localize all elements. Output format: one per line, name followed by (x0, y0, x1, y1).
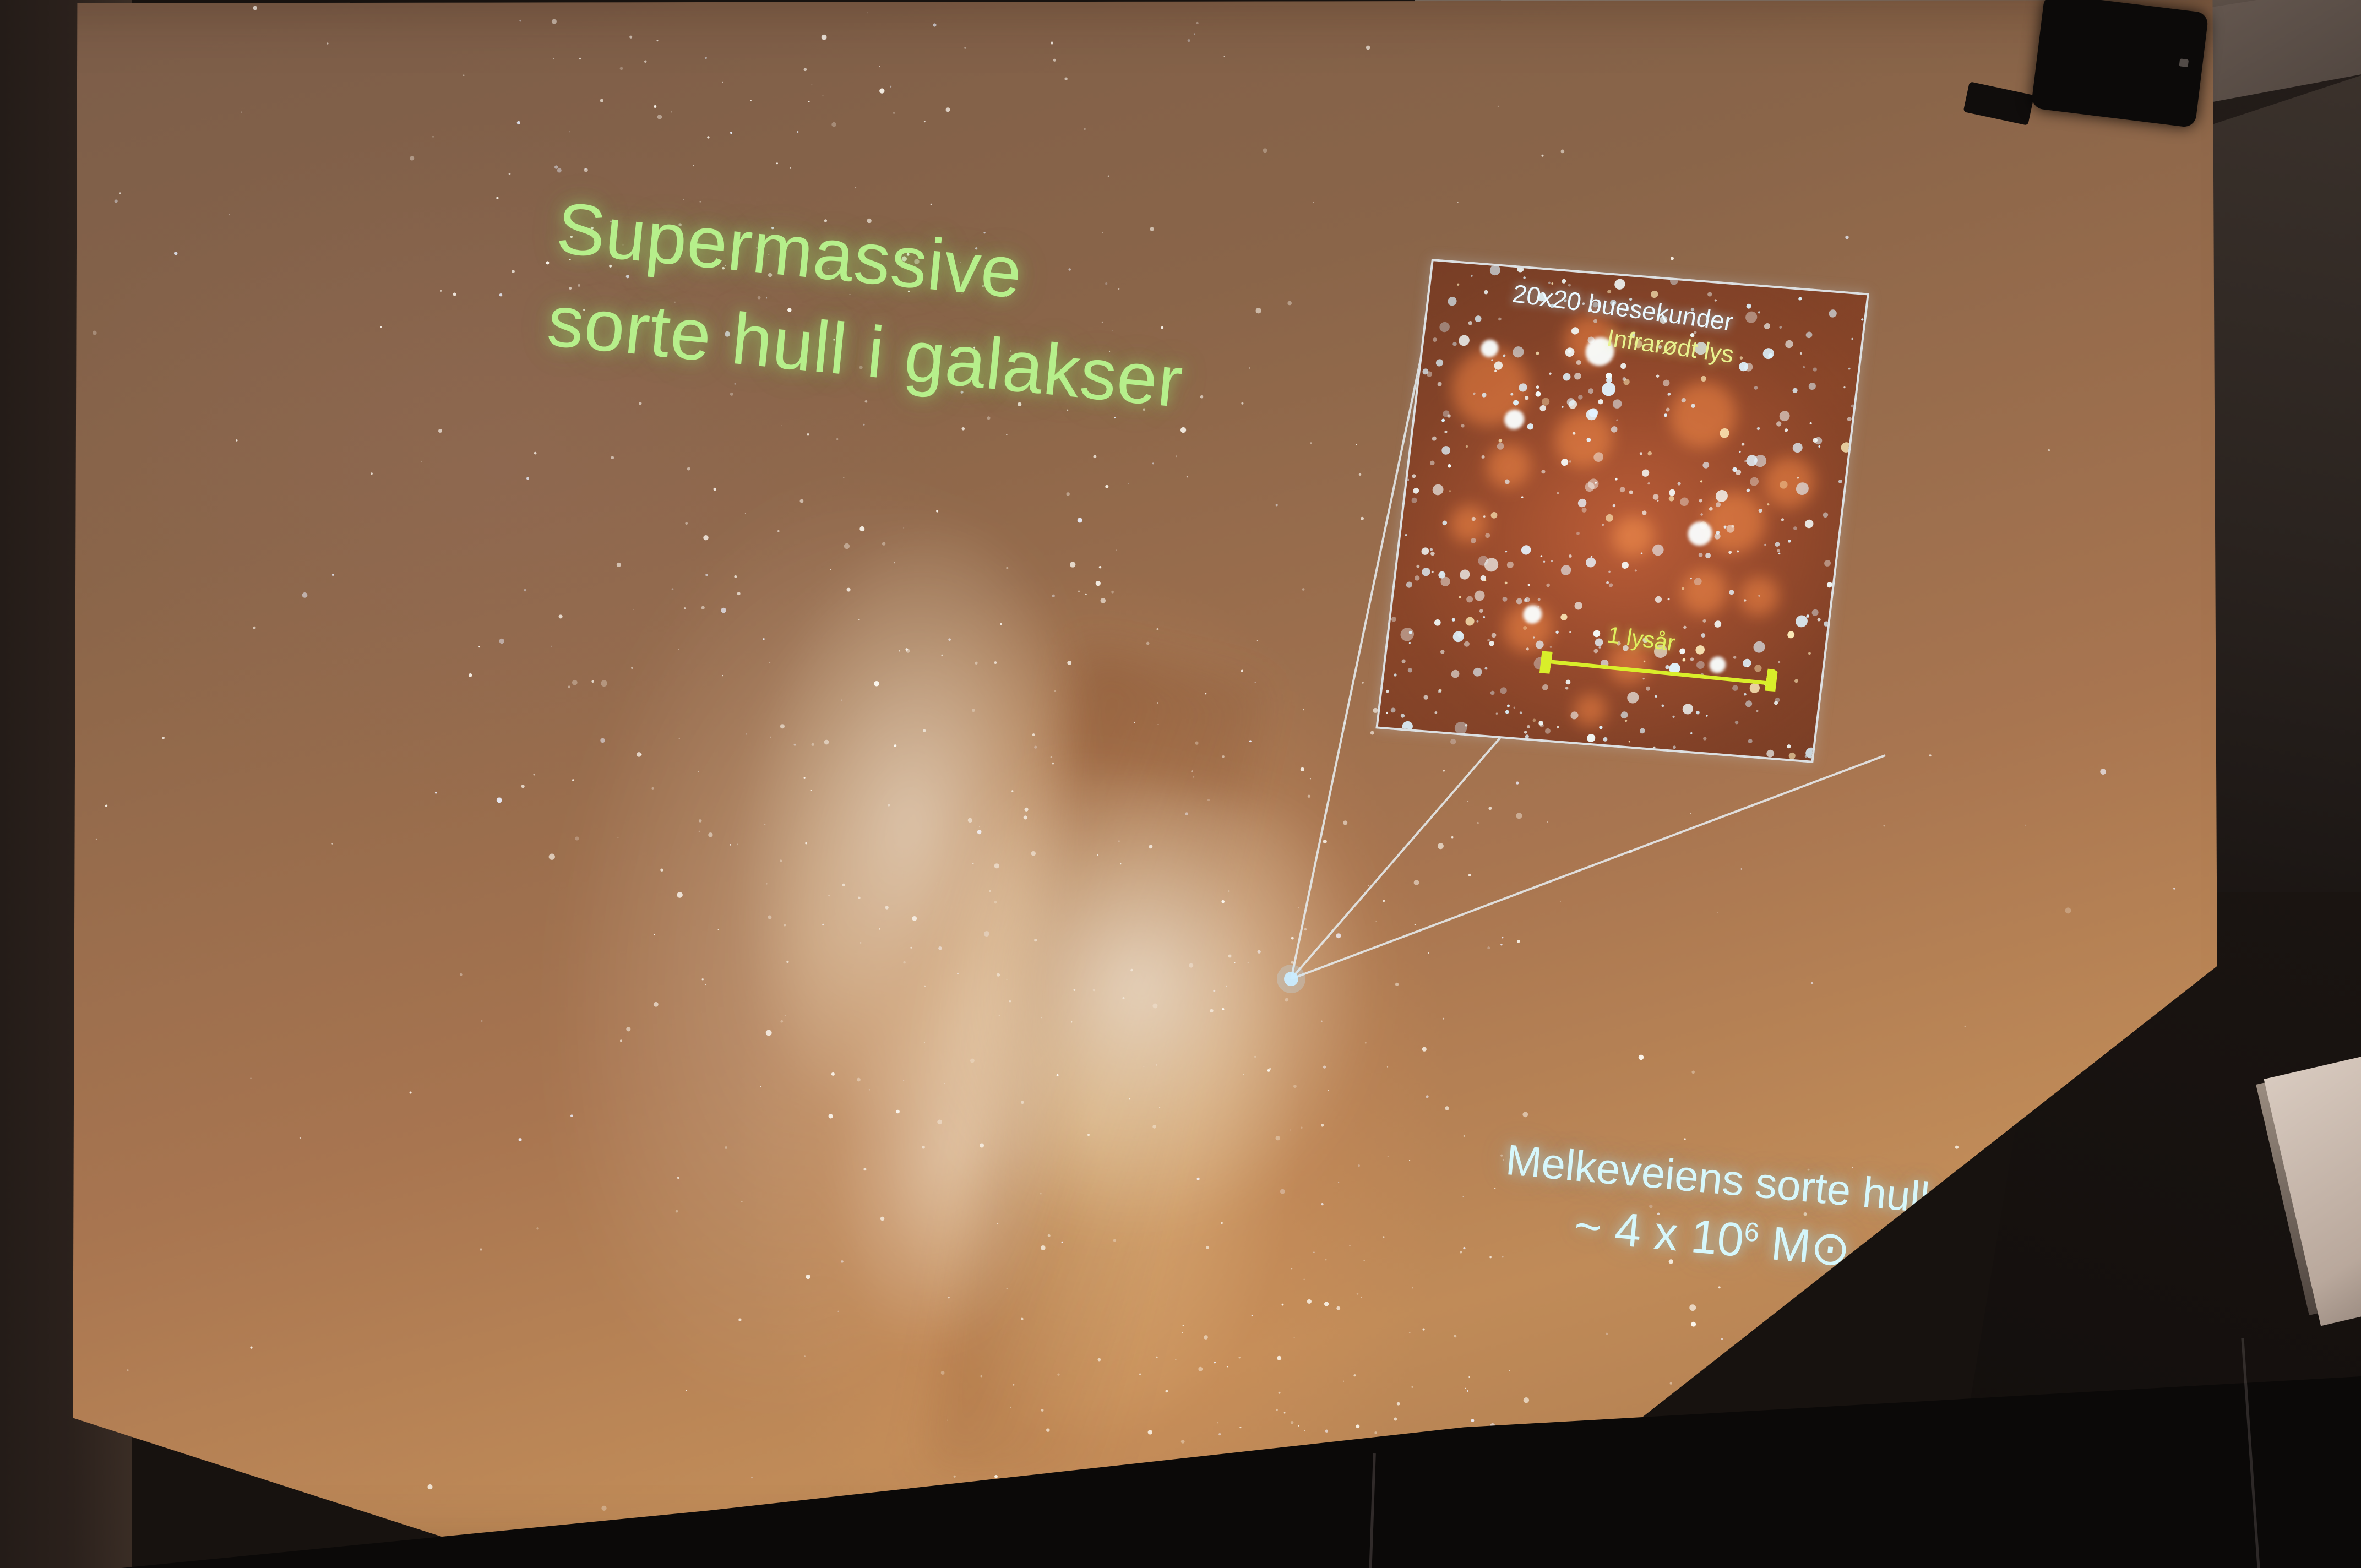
solar-mass-symbol: ⊙ (1808, 1221, 1852, 1277)
galactic-centre-inset: 20x20 buesekunder Infrarødt lys 1 lysår (1375, 259, 1869, 763)
caption-mass-unit: M (1756, 1216, 1813, 1273)
speaker-box (2031, 0, 2208, 128)
caption-mass-prefix: ~ 4 x 10 (1572, 1199, 1746, 1267)
speaker-led-icon (2179, 58, 2189, 67)
photo-of-projected-slide: Supermassive sorte hull i galakser Melke… (0, 0, 2361, 1568)
projection-screen: Supermassive sorte hull i galakser Melke… (0, 0, 2274, 1558)
